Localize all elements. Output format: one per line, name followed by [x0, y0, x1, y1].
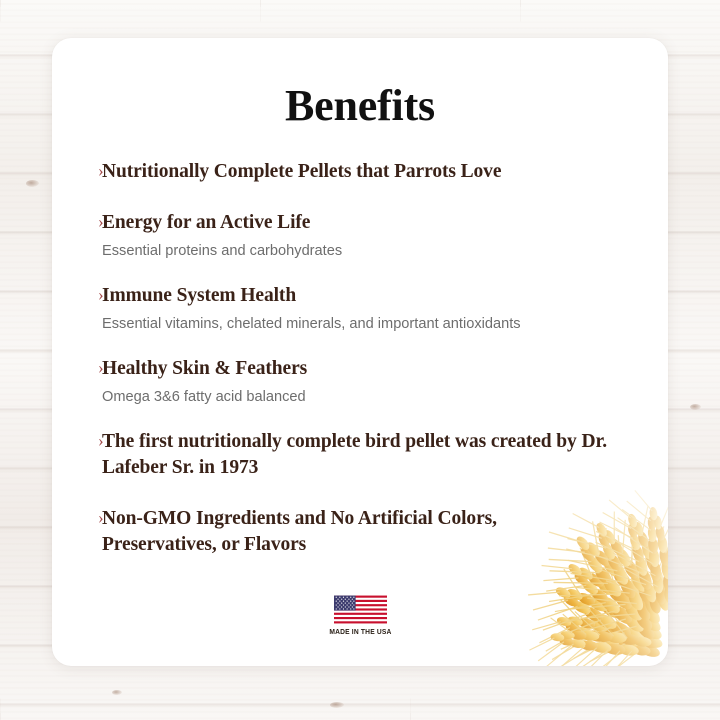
- benefit-heading: Immune System Health: [102, 283, 634, 309]
- made-in-usa-badge: MADE IN THE USA: [52, 595, 668, 636]
- chevron-right-icon: ›: [98, 430, 104, 451]
- chevron-right-icon: ›: [98, 284, 104, 305]
- benefit-subtext: Omega 3&6 fatty acid balanced: [102, 387, 634, 408]
- chevron-right-icon: ›: [98, 357, 104, 378]
- wood-knot: [112, 690, 122, 695]
- benefit-heading: Energy for an Active Life: [102, 210, 634, 236]
- list-item: › Immune System Health Essential vitamin…: [52, 283, 668, 335]
- benefit-subtext: Essential proteins and carbohydrates: [102, 241, 634, 262]
- wood-knot: [26, 180, 39, 187]
- usa-flag-icon: [334, 595, 387, 624]
- page-title: Benefits: [52, 38, 668, 131]
- made-in-usa-label: MADE IN THE USA: [329, 627, 391, 636]
- wood-knot: [330, 702, 344, 708]
- list-item: › Healthy Skin & Feathers Omega 3&6 fatt…: [52, 356, 668, 408]
- chevron-right-icon: ›: [98, 160, 104, 181]
- chevron-right-icon: ›: [98, 507, 104, 528]
- benefits-list: › Nutritionally Complete Pellets that Pa…: [52, 131, 668, 558]
- benefit-heading: The first nutritionally complete bird pe…: [102, 429, 608, 481]
- chevron-right-icon: ›: [98, 211, 104, 232]
- wood-knot: [690, 404, 701, 410]
- benefit-heading: Non-GMO Ingredients and No Artificial Co…: [102, 506, 498, 558]
- list-item: › Nutritionally Complete Pellets that Pa…: [52, 159, 668, 185]
- benefit-subtext: Essential vitamins, chelated minerals, a…: [102, 314, 634, 335]
- list-item: › Energy for an Active Life Essential pr…: [52, 210, 668, 262]
- benefit-heading: Nutritionally Complete Pellets that Parr…: [102, 159, 634, 185]
- benefits-card: Benefits: [52, 38, 668, 666]
- benefit-heading: Healthy Skin & Feathers: [102, 356, 634, 382]
- list-item: › The first nutritionally complete bird …: [52, 429, 668, 481]
- list-item: › Non-GMO Ingredients and No Artificial …: [52, 506, 668, 558]
